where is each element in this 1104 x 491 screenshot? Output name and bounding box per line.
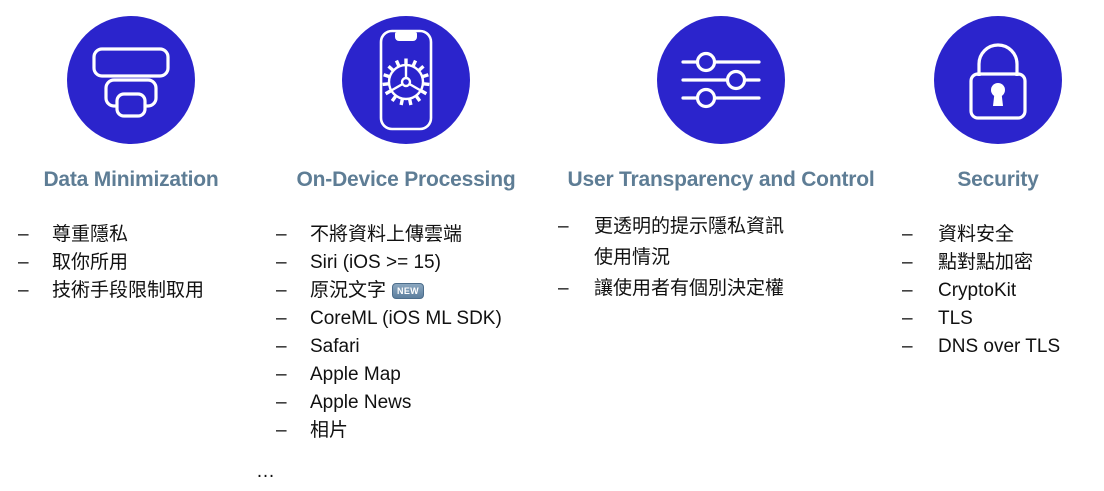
bullet-text: 不將資料上傳雲端	[310, 221, 550, 249]
list-item: – 取你所用	[18, 249, 262, 277]
list-item: – 尊重隱私	[18, 221, 262, 249]
bullet-text: 點對點加密	[938, 249, 1104, 277]
sliders-settings-icon	[679, 49, 763, 111]
bullet-dash: –	[276, 305, 292, 333]
bullet-text: 相片	[310, 417, 550, 445]
bullet-text: TLS	[938, 305, 1104, 333]
bullet-dash: –	[558, 273, 574, 304]
bullet-text: Safari	[310, 333, 550, 361]
new-badge-icon: NEW	[392, 283, 424, 299]
bullet-list-user-transparency: – 更透明的提示隱私資訊 使用情況 – 讓使用者有個別決定權	[550, 211, 892, 304]
icon-wrap-security	[892, 0, 1104, 160]
bullet-dash: –	[902, 305, 918, 333]
bullet-text: CryptoKit	[938, 277, 1104, 305]
list-item: – 不將資料上傳雲端	[276, 221, 550, 249]
bullet-dash: –	[276, 333, 292, 361]
column-user-transparency-and-control: User Transparency and Control – 更透明的提示隱私…	[550, 0, 892, 491]
bullet-text: 尊重隱私	[52, 221, 262, 249]
bullet-text-label: 原況文字	[310, 280, 386, 301]
bullet-dash: –	[276, 249, 292, 277]
icon-circle-data-minimization	[67, 16, 195, 144]
padlock-icon	[960, 38, 1036, 122]
page-title-data-minimization: Data Minimization	[0, 166, 262, 193]
bullet-dash: –	[902, 221, 918, 249]
bullet-text: Siri (iOS >= 15)	[310, 249, 550, 277]
list-item: – 相片	[276, 417, 550, 445]
list-item: – 技術手段限制取用	[18, 277, 262, 305]
icon-wrap-on-device-processing	[262, 0, 550, 160]
icon-circle-user-transparency	[657, 16, 785, 144]
bullet-dash: –	[276, 221, 292, 249]
bullet-list-data-minimization: – 尊重隱私 – 取你所用 – 技術手段限制取用	[0, 221, 262, 305]
bullet-list-on-device-processing: – 不將資料上傳雲端 – Siri (iOS >= 15) – 原況文字NEW …	[262, 221, 550, 445]
bullet-dash: –	[902, 249, 918, 277]
continuation-ellipsis: …	[256, 462, 275, 482]
funnel-filter-icon	[88, 41, 174, 119]
column-security: Security – 資料安全 – 點對點加密 – CryptoKit – TL…	[892, 0, 1104, 491]
list-item: – DNS over TLS	[902, 333, 1104, 361]
bullet-list-security: – 資料安全 – 點對點加密 – CryptoKit – TLS – DNS	[892, 221, 1104, 361]
column-container: Data Minimization – 尊重隱私 – 取你所用 – 技術手段限制…	[0, 0, 1104, 491]
bullet-text: 讓使用者有個別決定權	[594, 273, 892, 304]
icon-wrap-user-transparency	[550, 0, 892, 160]
list-item: – 原況文字NEW	[276, 277, 550, 305]
list-item: – TLS	[902, 305, 1104, 333]
bullet-dash: –	[276, 361, 292, 389]
bullet-text: 原況文字NEW	[310, 277, 550, 305]
slide-canvas: Data Minimization – 尊重隱私 – 取你所用 – 技術手段限制…	[0, 0, 1104, 491]
list-item: – Apple Map	[276, 361, 550, 389]
bullet-text: 資料安全	[938, 221, 1104, 249]
page-title-on-device-processing: On-Device Processing	[262, 166, 550, 193]
bullet-dash: –	[18, 221, 34, 249]
bullet-dash: –	[902, 333, 918, 361]
bullet-text: DNS over TLS	[938, 333, 1104, 361]
bullet-dash: –	[18, 249, 34, 277]
list-item: – 讓使用者有個別決定權	[558, 273, 892, 304]
bullet-text: Apple Map	[310, 361, 550, 389]
bullet-text: 技術手段限制取用	[52, 277, 262, 305]
list-item: – Siri (iOS >= 15)	[276, 249, 550, 277]
list-item: – Safari	[276, 333, 550, 361]
bullet-dash: –	[902, 277, 918, 305]
bullet-dash: –	[558, 211, 574, 242]
icon-wrap-data-minimization	[0, 0, 262, 160]
bullet-dash: –	[276, 417, 292, 445]
column-on-device-processing: On-Device Processing – 不將資料上傳雲端 – Siri (…	[262, 0, 550, 491]
phone-gear-icon	[370, 28, 442, 132]
list-item: – Apple News	[276, 389, 550, 417]
list-item: – CoreML (iOS ML SDK)	[276, 305, 550, 333]
bullet-dash: –	[18, 277, 34, 305]
list-item: – 更透明的提示隱私資訊 使用情況	[558, 211, 892, 273]
bullet-dash: –	[276, 277, 292, 305]
bullet-text: CoreML (iOS ML SDK)	[310, 305, 550, 333]
list-item: – 資料安全	[902, 221, 1104, 249]
list-item: – CryptoKit	[902, 277, 1104, 305]
bullet-text: 更透明的提示隱私資訊 使用情況	[594, 211, 892, 273]
column-data-minimization: Data Minimization – 尊重隱私 – 取你所用 – 技術手段限制…	[0, 0, 262, 491]
list-item: – 點對點加密	[902, 249, 1104, 277]
bullet-text: Apple News	[310, 389, 550, 417]
icon-circle-on-device-processing	[342, 16, 470, 144]
page-title-user-transparency: User Transparency and Control	[550, 166, 892, 193]
bullet-dash: –	[276, 389, 292, 417]
bullet-text: 取你所用	[52, 249, 262, 277]
icon-circle-security	[934, 16, 1062, 144]
page-title-security: Security	[892, 166, 1104, 193]
